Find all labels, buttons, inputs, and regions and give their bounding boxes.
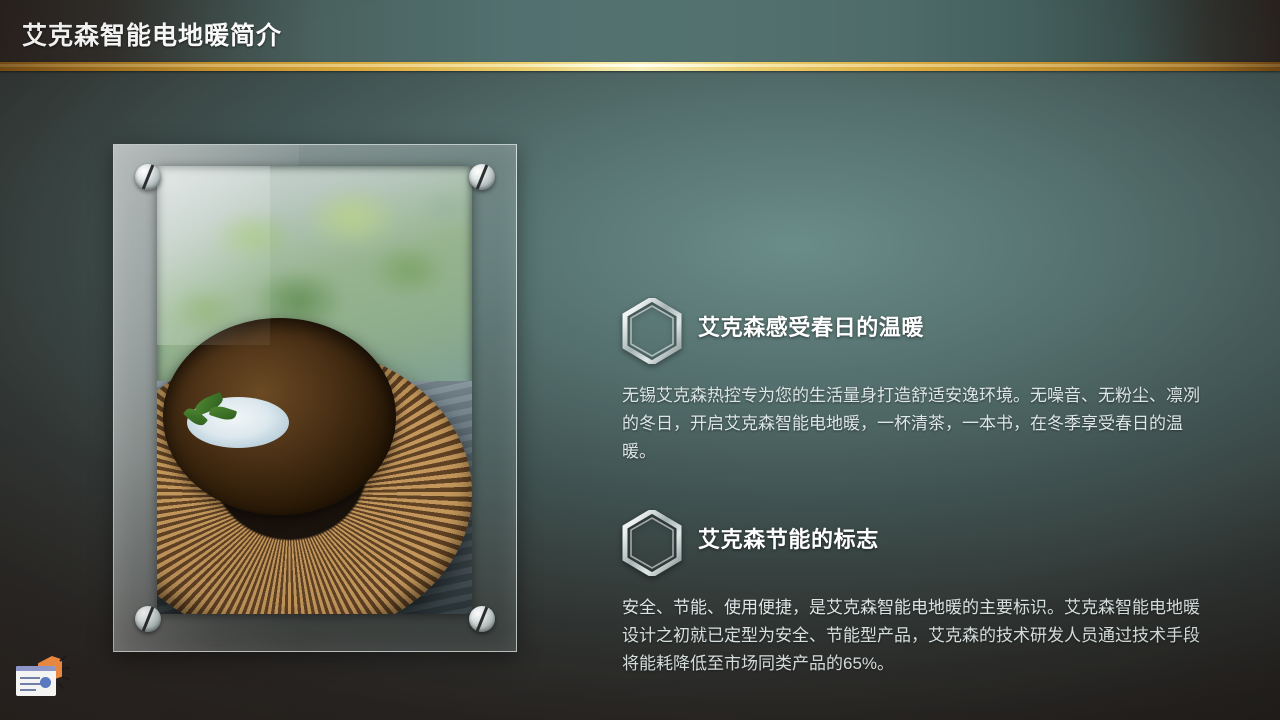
section-title: 艾克森感受春日的温暖 [698, 310, 924, 342]
page-title: 艾克森智能电地暖简介 [22, 16, 282, 52]
photo-glass-reflection [157, 166, 270, 345]
hexagon-icon [622, 510, 682, 576]
screw-icon [469, 606, 495, 632]
slide-canvas: 艾克森智能电地暖简介 [0, 0, 1280, 720]
photo-image [157, 166, 472, 614]
slide-header: 艾克森智能电地暖简介 [0, 0, 1280, 62]
section-header: 艾克森节能的标志 [622, 508, 1222, 580]
section-body: 安全、节能、使用便捷，是艾克森智能电地暖的主要标识。艾克森智能电地暖设计之初就已… [622, 594, 1202, 678]
content-column: 艾克森感受春日的温暖 无锡艾克森热控专为您的生活量身打造舒适安逸环境。无噪音、无… [622, 296, 1222, 678]
section-warmth: 艾克森感受春日的温暖 无锡艾克森热控专为您的生活量身打造舒适安逸环境。无噪音、无… [622, 296, 1222, 466]
glass-photo-frame [113, 144, 517, 652]
photo-lacquer-bowl [163, 318, 396, 515]
section-energy-saving: 艾克森节能的标志 安全、节能、使用便捷，是艾克森智能电地暖的主要标识。艾克森智能… [622, 508, 1222, 678]
card-text-line [20, 689, 36, 691]
gold-divider [0, 62, 1280, 71]
card-text-line [20, 677, 40, 679]
section-header: 艾克森感受春日的温暖 [622, 296, 1222, 368]
hexagon-icon [622, 298, 682, 364]
screw-icon [135, 606, 161, 632]
screw-icon [135, 164, 161, 190]
screw-icon [469, 164, 495, 190]
section-body: 无锡艾克森热控专为您的生活量身打造舒适安逸环境。无噪音、无粉尘、凛冽的冬日，开启… [622, 382, 1202, 466]
card-header-bar-2 [16, 666, 56, 671]
card-seal-icon [40, 677, 51, 688]
announcement-megaphone-icon[interactable] [12, 652, 70, 702]
section-title: 艾克森节能的标志 [698, 522, 879, 554]
